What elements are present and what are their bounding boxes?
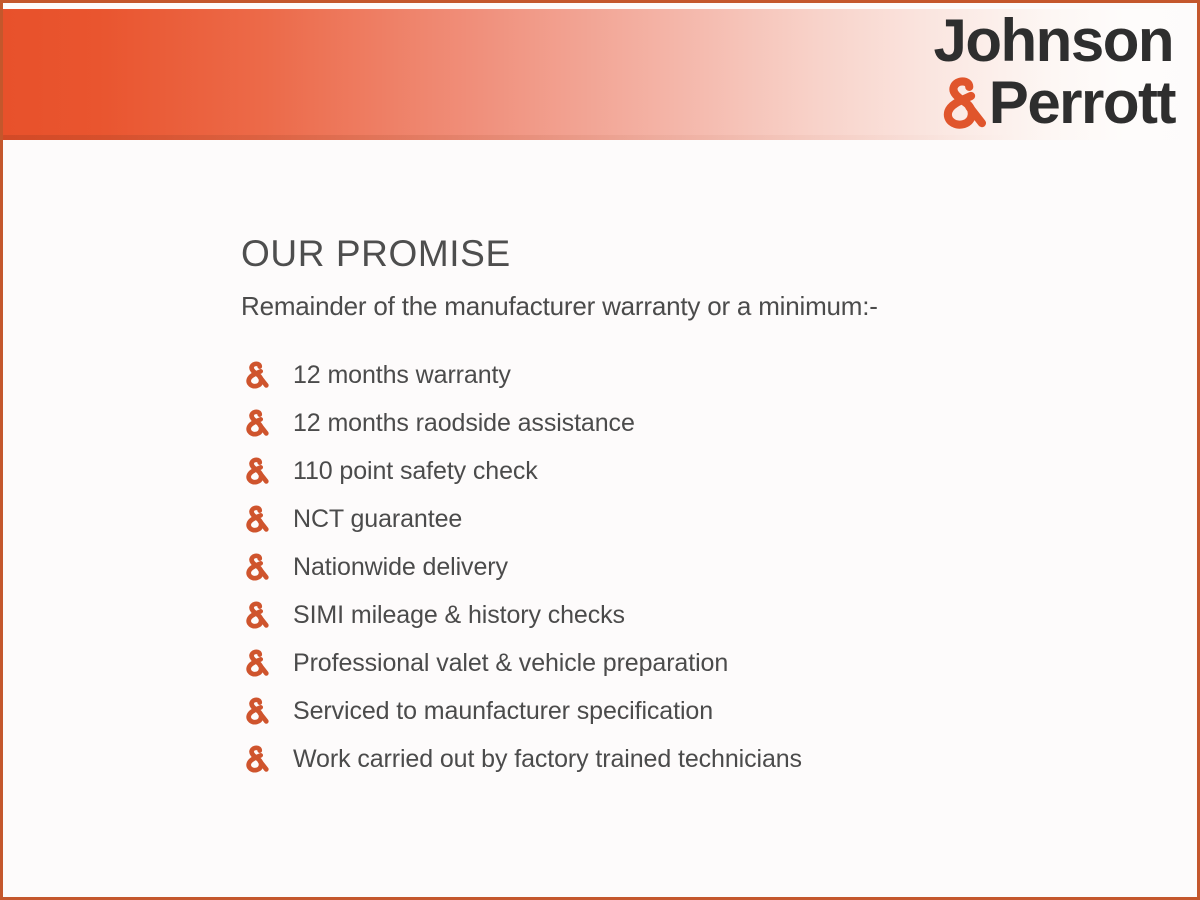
list-item: Nationwide delivery xyxy=(241,543,1161,591)
ampersand-bullet-icon xyxy=(241,457,271,487)
ampersand-bullet-icon xyxy=(241,553,271,583)
list-item: 12 months warranty xyxy=(241,351,1161,399)
page-title: OUR PROMISE xyxy=(241,231,1161,277)
ampersand-bullet-icon xyxy=(241,697,271,727)
ampersand-bullet-icon xyxy=(241,649,271,679)
ampersand-bullet-icon xyxy=(241,745,271,775)
list-item: SIMI mileage & history checks xyxy=(241,591,1161,639)
list-item-label: Work carried out by factory trained tech… xyxy=(293,744,802,774)
ampersand-bullet-icon xyxy=(241,409,271,439)
list-item-label: SIMI mileage & history checks xyxy=(293,600,625,630)
list-item-label: NCT guarantee xyxy=(293,504,462,534)
list-item: Serviced to maunfacturer specification xyxy=(241,687,1161,735)
ampersand-bullet-icon xyxy=(241,601,271,631)
promise-list: 12 months warranty 12 months raodside as… xyxy=(241,351,1161,783)
list-item-label: 12 months raodside assistance xyxy=(293,408,635,438)
list-item: 110 point safety check xyxy=(241,447,1161,495)
ampersand-bullet-icon xyxy=(241,505,271,535)
ampersand-icon xyxy=(933,76,991,134)
list-item-label: Serviced to maunfacturer specification xyxy=(293,696,713,726)
list-item-label: Nationwide delivery xyxy=(293,552,508,582)
logo-text-johnson: Johnson xyxy=(885,11,1175,71)
logo-text-perrott: Perrott xyxy=(989,73,1175,133)
list-item: Professional valet & vehicle preparation xyxy=(241,639,1161,687)
content-area: OUR PROMISE Remainder of the manufacture… xyxy=(241,231,1161,783)
list-item-label: Professional valet & vehicle preparation xyxy=(293,648,728,678)
ampersand-bullet-icon xyxy=(241,361,271,391)
list-item: 12 months raodside assistance xyxy=(241,399,1161,447)
page-subtitle: Remainder of the manufacturer warranty o… xyxy=(241,289,1161,323)
list-item: Work carried out by factory trained tech… xyxy=(241,735,1161,783)
list-item-label: 110 point safety check xyxy=(293,456,538,486)
card-inner: Johnson Perrott OUR PROMISE Remainder of… xyxy=(3,3,1197,897)
list-item: NCT guarantee xyxy=(241,495,1161,543)
logo-second-line: Perrott xyxy=(885,73,1175,133)
list-item-label: 12 months warranty xyxy=(293,360,511,390)
promise-card: Johnson Perrott OUR PROMISE Remainder of… xyxy=(0,0,1200,900)
brand-logo: Johnson Perrott xyxy=(885,11,1175,136)
